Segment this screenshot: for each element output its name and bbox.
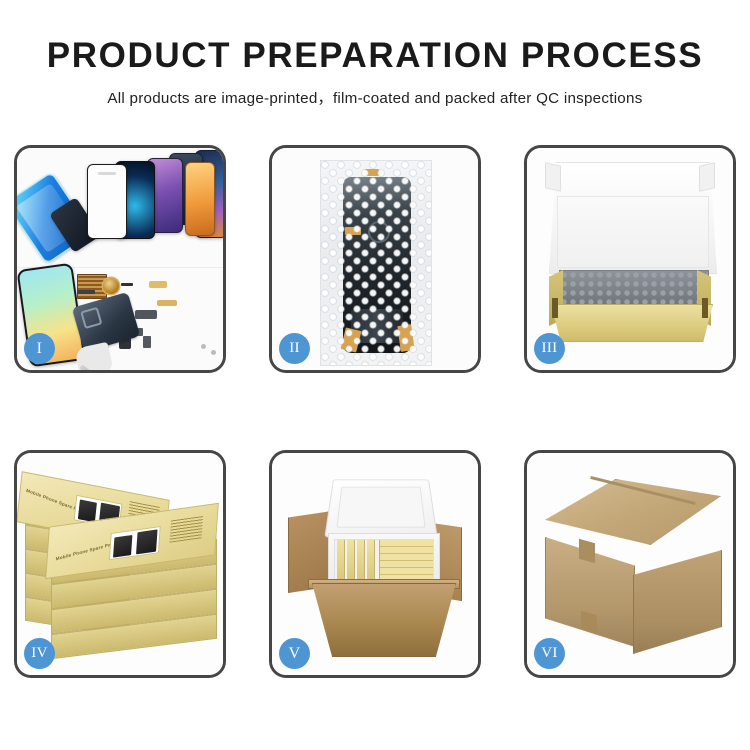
gold-flex-cable-1 — [149, 281, 167, 288]
flex-connector-2 — [135, 310, 157, 319]
step-badge-3: III — [534, 333, 565, 364]
yellow-box-edge-2 — [347, 540, 355, 580]
step-card-6-sealed-shipping-carton: VI — [524, 450, 736, 678]
box-yellow-front — [551, 304, 713, 342]
yellow-boxes-stacked-flat — [379, 540, 433, 580]
copper-coil-part — [103, 278, 119, 294]
process-step-grid: I II — [14, 145, 736, 678]
step-card-4-stacked-inner-boxes: Mobile Phone Spare Parts Mobile Phone Sp… — [14, 450, 226, 678]
yellow-box-edge-4 — [367, 540, 375, 580]
box-corner-right — [702, 298, 708, 318]
step-card-5-foam-box-in-carton: V — [269, 450, 481, 678]
step-badge-1: I — [24, 333, 55, 364]
step-card-3-inner-box-with-foam: III — [524, 145, 736, 373]
small-component-5 — [143, 336, 151, 348]
yellow-box-edge-3 — [357, 540, 365, 580]
grey-bubble-foam-layer — [559, 270, 709, 308]
screw-1 — [201, 344, 206, 349]
carton-tape-upper — [579, 539, 595, 564]
step-badge-4: IV — [24, 638, 55, 669]
lid-tab-left — [545, 162, 561, 191]
carton-body — [312, 583, 456, 657]
foam-box-lid — [324, 479, 437, 537]
phone-orange-screen — [185, 162, 215, 236]
metal-bar-part — [77, 290, 95, 294]
yellow-box-edge-1 — [337, 540, 345, 580]
box-label-chip-right-2 — [136, 529, 158, 554]
step-badge-6: VI — [534, 638, 565, 669]
bubble-texture — [321, 161, 431, 365]
box-corner-left — [552, 298, 558, 318]
step-badge-2: II — [279, 333, 310, 364]
box-label-window-right — [109, 526, 161, 560]
box-inner-white-panel — [557, 196, 709, 268]
small-bar-part — [121, 283, 133, 286]
foam-box-cavity — [334, 539, 434, 581]
tempered-glass-protector — [87, 164, 127, 239]
lid-tab-right — [699, 162, 715, 191]
header: PRODUCT PREPARATION PROCESS All products… — [0, 0, 750, 108]
screw-2 — [211, 350, 216, 355]
box-label-chip-left-1 — [78, 499, 97, 522]
box-label-lines-right — [170, 516, 204, 543]
step-card-2-bubble-wrap-packing: II — [269, 145, 481, 373]
bubble-wrap-bag — [320, 160, 432, 366]
page-subtitle: All products are image-printed，film-coat… — [0, 86, 750, 108]
box-label-chip-right-1 — [113, 535, 132, 558]
step-card-1-products-and-parts: I — [14, 145, 226, 373]
step-badge-5: V — [279, 638, 310, 669]
gold-flex-cable-2 — [157, 300, 177, 306]
page-title: PRODUCT PREPARATION PROCESS — [0, 38, 750, 75]
spare-parts-group — [77, 274, 226, 372]
